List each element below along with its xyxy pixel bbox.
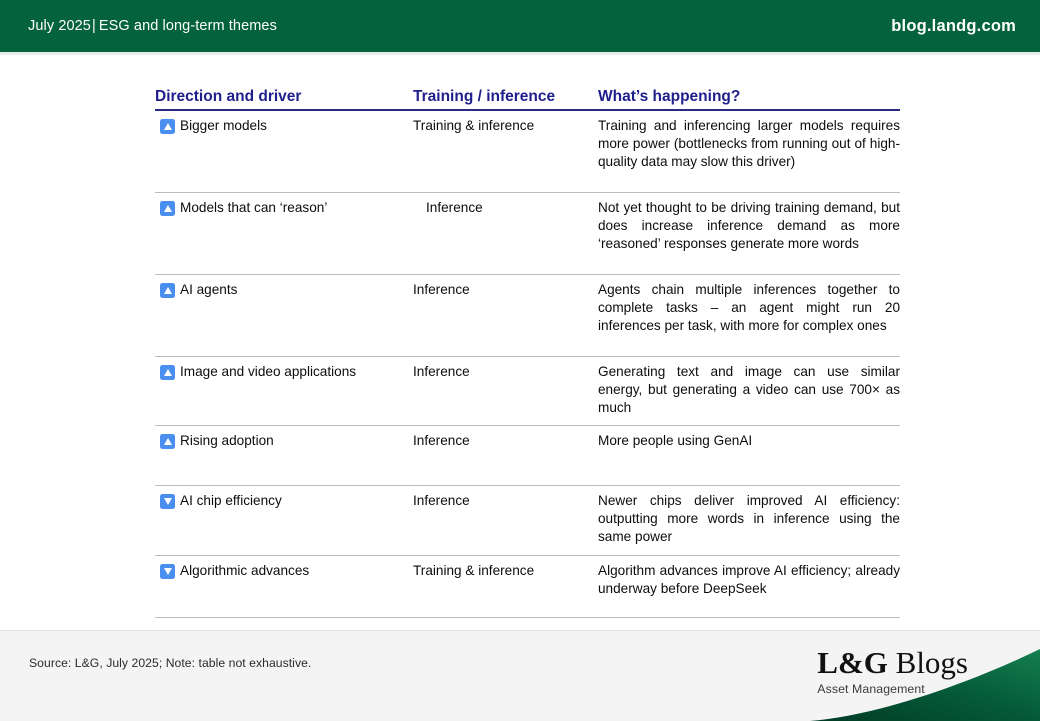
- trend-up-icon: [160, 201, 175, 216]
- driver-label: Image and video applications: [180, 363, 413, 381]
- cell-driver: Models that can ‘reason’: [155, 193, 413, 275]
- cell-driver: Algorithmic advances: [155, 555, 413, 617]
- cell-driver: AI chip efficiency: [155, 486, 413, 555]
- driver-label: Algorithmic advances: [180, 562, 413, 580]
- table-row: AI chip efficiency Inference Newer chips…: [155, 486, 900, 555]
- cell-mode: Inference: [413, 486, 598, 555]
- trend-up-icon: [160, 283, 175, 298]
- table-row: Image and video applications Inference G…: [155, 357, 900, 426]
- ai-drivers-table: Direction and driver Training / inferenc…: [155, 88, 900, 618]
- lg-blogs-logo: L&G Blogs Asset Management: [817, 647, 968, 696]
- table-row: AI agents Inference Agents chain multipl…: [155, 275, 900, 357]
- cell-driver: Rising adoption: [155, 426, 413, 486]
- cell-what-happening: Agents chain multiple inferences togethe…: [598, 275, 900, 357]
- table-row: Models that can ‘reason’ Inference Not y…: [155, 193, 900, 275]
- cell-driver: Image and video applications: [155, 357, 413, 426]
- table-row: Algorithmic advances Training & inferenc…: [155, 555, 900, 617]
- banner-site-url[interactable]: blog.landg.com: [891, 0, 1016, 52]
- trend-up-icon: [160, 365, 175, 380]
- cell-mode: Inference: [413, 357, 598, 426]
- banner-date: July 2025: [28, 18, 91, 34]
- cell-what-happening: Not yet thought to be driving training d…: [598, 193, 900, 275]
- table-body: Bigger models Training & inference Train…: [155, 110, 900, 617]
- driver-label: AI chip efficiency: [180, 492, 413, 510]
- column-header-direction-and-driver: Direction and driver: [155, 88, 413, 110]
- top-banner: July 2025 | ESG and long-term themes blo…: [0, 0, 1040, 52]
- cell-mode: Training & inference: [413, 110, 598, 193]
- slide-body: Direction and driver Training / inferenc…: [0, 55, 1040, 630]
- cell-driver: AI agents: [155, 275, 413, 357]
- cell-mode: Inference: [413, 275, 598, 357]
- cell-what-happening: Newer chips deliver improved AI efficien…: [598, 486, 900, 555]
- banner-title-group: July 2025 | ESG and long-term themes: [28, 0, 277, 52]
- table-row: Bigger models Training & inference Train…: [155, 110, 900, 193]
- trend-up-icon: [160, 434, 175, 449]
- driver-label: Rising adoption: [180, 432, 413, 450]
- cell-what-happening: More people using GenAI: [598, 426, 900, 486]
- driver-label: Models that can ‘reason’: [180, 199, 413, 217]
- trend-down-icon: [160, 494, 175, 509]
- table-row: Rising adoption Inference More people us…: [155, 426, 900, 486]
- column-header-whats-happening: What’s happening?: [598, 88, 900, 110]
- banner-separator: |: [91, 18, 99, 34]
- logo-tagline: Asset Management: [817, 682, 968, 696]
- footer: Source: L&G, July 2025; Note: table not …: [0, 630, 1040, 721]
- column-header-training-inference: Training / inference: [413, 88, 598, 110]
- table-head: Direction and driver Training / inferenc…: [155, 88, 900, 110]
- driver-label: Bigger models: [180, 117, 413, 135]
- cell-driver: Bigger models: [155, 110, 413, 193]
- trend-up-icon: [160, 119, 175, 134]
- cell-what-happening: Algorithm advances improve AI efficiency…: [598, 555, 900, 617]
- logo-wordmark: L&G Blogs: [817, 647, 968, 678]
- driver-label: AI agents: [180, 281, 413, 299]
- banner-subject: ESG and long-term themes: [99, 18, 277, 34]
- cell-mode: Training & inference: [413, 555, 598, 617]
- source-note: Source: L&G, July 2025; Note: table not …: [29, 656, 311, 670]
- cell-mode: Inference: [413, 426, 598, 486]
- logo-wordmark-rest: Blogs: [888, 645, 968, 680]
- table-header-row: Direction and driver Training / inferenc…: [155, 88, 900, 110]
- logo-wordmark-bold: L&G: [817, 645, 888, 680]
- trend-down-icon: [160, 564, 175, 579]
- cell-what-happening: Training and inferencing larger models r…: [598, 110, 900, 193]
- cell-mode: Inference: [413, 193, 598, 275]
- cell-what-happening: Generating text and image can use simila…: [598, 357, 900, 426]
